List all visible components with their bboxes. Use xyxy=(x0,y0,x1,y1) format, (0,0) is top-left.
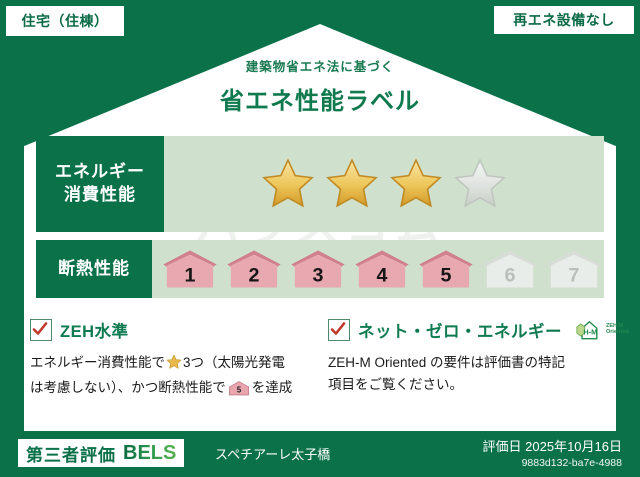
zeh-m-house-icon: H-M xyxy=(574,317,604,343)
svg-text:4: 4 xyxy=(377,265,388,287)
bels-japanese-label: 第三者評価 xyxy=(26,441,116,466)
net-zero-energy-title: ネット・ゼロ・エネルギー xyxy=(358,318,562,342)
building-type-tag: 住宅（住棟） xyxy=(6,6,124,36)
energy-label-card: 住宅（住棟） 再エネ設備なし 建築物省エネ法に基づく 省エネ性能ラベル ハウスコ… xyxy=(0,0,640,477)
insulation-level-active: 2 xyxy=(224,247,284,291)
insulation-level-inactive: 7 xyxy=(544,247,604,291)
zeh-text-part4: を達成 xyxy=(252,380,293,395)
zeh-standard-description: エネルギー消費性能で3つ（太陽光発電 は考慮しない）、かつ断熱性能で5を達成 xyxy=(30,352,320,404)
insulation-level-inactive: 6 xyxy=(480,247,540,291)
energy-performance-row: エネルギー 消費性能 xyxy=(36,136,604,232)
zeh-standard-title: ZEH水準 xyxy=(60,318,129,342)
evaluation-date: 評価日 2025年10月16日 xyxy=(483,436,622,455)
star-filled-icon xyxy=(260,157,316,211)
footer-bar: 第三者評価 BELS スペチアーレ太子橋 評価日 2025年10月16日 988… xyxy=(0,431,640,477)
insulation-level-active: 1 xyxy=(160,247,220,291)
zeh-standard-header: ZEH水準 xyxy=(30,318,320,342)
svg-text:7: 7 xyxy=(569,265,580,287)
insulation-badge-icon: 5 xyxy=(228,380,250,403)
energy-performance-label: エネルギー 消費性能 xyxy=(36,136,164,232)
evaluation-id: 9883d132-ba7e-4988 xyxy=(483,457,622,469)
svg-text:6: 6 xyxy=(505,265,516,287)
zeh-text-part1: エネルギー消費性能で xyxy=(30,355,165,370)
svg-text:5: 5 xyxy=(237,386,242,395)
insulation-level-active: 5 xyxy=(416,247,476,291)
star-filled-icon xyxy=(388,157,444,211)
energy-label-line2: 消費性能 xyxy=(64,184,136,207)
building-name: スペチアーレ太子橋 xyxy=(215,444,330,463)
insulation-performance-label: 断熱性能 xyxy=(36,240,152,298)
zeh-text-part3: は考慮しない）、かつ断熱性能で xyxy=(30,380,226,395)
bels-logo-text: BELS xyxy=(123,442,176,465)
energy-star-rating xyxy=(164,136,604,232)
check-icon xyxy=(330,321,346,337)
energy-label-line1: エネルギー xyxy=(55,161,145,184)
net-zero-energy-block: ネット・ゼロ・エネルギー H-M ZEH-M Oriented ZEH-M Or… xyxy=(328,318,620,397)
svg-text:1: 1 xyxy=(185,265,196,287)
check-icon xyxy=(32,321,48,337)
star-empty-icon xyxy=(452,157,508,211)
zeh-m-oriented-logo: H-M ZEH-M Oriented xyxy=(574,317,629,343)
net-zero-energy-description: ZEH-M Oriented の要件は評価書の特記 項目をご覧ください。 xyxy=(328,352,620,397)
insulation-label-text: 断熱性能 xyxy=(58,258,130,281)
zeh-text-part2: 3つ（太陽光発電 xyxy=(183,355,285,370)
title-subtitle: 建築物省エネ法に基づく xyxy=(0,56,640,75)
evaluation-info: 評価日 2025年10月16日 9883d132-ba7e-4988 xyxy=(483,436,622,469)
net-zero-text-line2: 項目をご覧ください。 xyxy=(328,377,463,392)
insulation-performance-row: 断熱性能 1234567 xyxy=(36,240,604,298)
net-zero-text-line1: ZEH-M Oriented の要件は評価書の特記 xyxy=(328,355,565,370)
zeh-standard-checkbox[interactable] xyxy=(30,319,52,341)
label-title-block: 建築物省エネ法に基づく 省エネ性能ラベル xyxy=(0,56,640,116)
star-filled-icon xyxy=(324,157,380,211)
net-zero-energy-header: ネット・ゼロ・エネルギー H-M ZEH-M Oriented xyxy=(328,318,620,342)
page-title: 省エネ性能ラベル xyxy=(0,81,640,116)
svg-text:3: 3 xyxy=(313,265,324,287)
bels-badge: 第三者評価 BELS xyxy=(18,439,184,467)
insulation-level-active: 3 xyxy=(288,247,348,291)
svg-text:H-M: H-M xyxy=(583,327,597,336)
renewable-equipment-tag: 再エネ設備なし xyxy=(494,6,634,34)
insulation-level-scale: 1234567 xyxy=(152,240,604,298)
svg-text:2: 2 xyxy=(249,265,260,287)
insulation-level-active: 4 xyxy=(352,247,412,291)
zeh-standard-block: ZEH水準 エネルギー消費性能で3つ（太陽光発電 は考慮しない）、かつ断熱性能で… xyxy=(30,318,320,404)
star-icon xyxy=(166,354,182,377)
svg-text:5: 5 xyxy=(441,265,452,287)
net-zero-energy-checkbox[interactable] xyxy=(328,319,350,341)
zeh-m-caption-line2: Oriented xyxy=(606,330,629,336)
